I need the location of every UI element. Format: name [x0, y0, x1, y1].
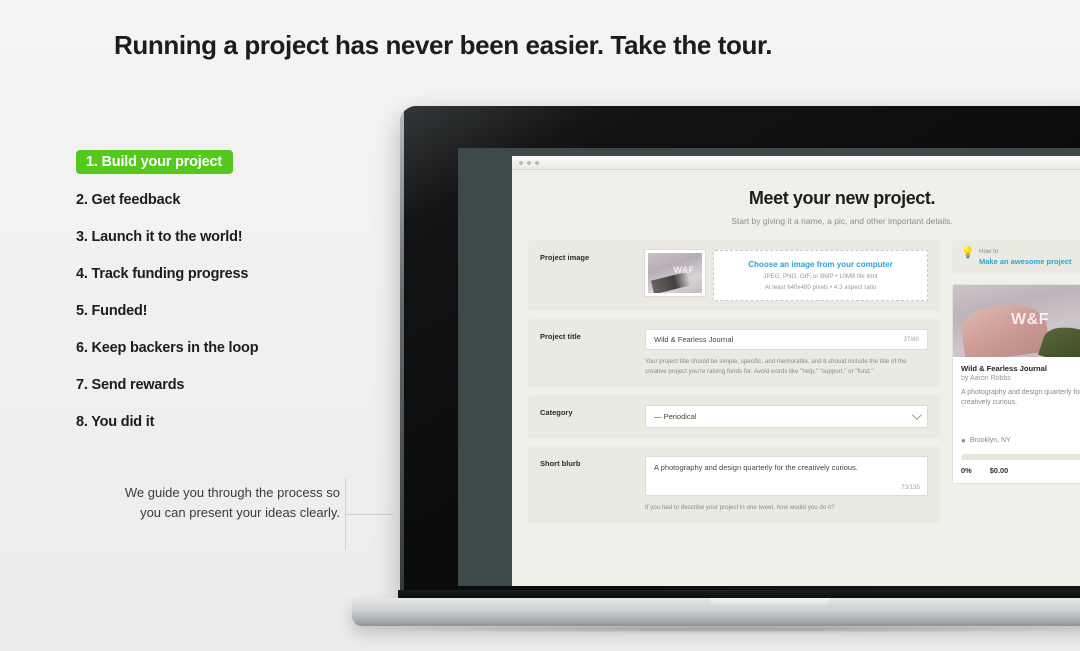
category-select[interactable]: — Periodical — [645, 405, 928, 428]
browser-window: Meet your new project. Start by giving i… — [512, 156, 1080, 586]
category-value: — Periodical — [654, 412, 697, 421]
laptop-shadow — [366, 625, 1080, 633]
step-item-3[interactable]: 3. Launch it to the world! — [76, 226, 376, 248]
project-editor-app: Meet your new project. Start by giving i… — [512, 170, 1080, 586]
short-blurb-textarea[interactable]: A photography and design quarterly for t… — [645, 456, 928, 496]
step-item-4[interactable]: 4. Track funding progress — [76, 263, 376, 285]
howto-panel[interactable]: 💡 How to Make an awesome project — [952, 240, 1080, 274]
dropzone-size-note: At least 640x480 pixels • 4:3 aspect rat… — [720, 284, 921, 291]
howto-link[interactable]: Make an awesome project — [979, 257, 1072, 266]
card-progress-bar — [961, 454, 1080, 460]
window-close-icon[interactable] — [519, 161, 523, 165]
project-title-help: Your project title should be simple, spe… — [645, 357, 928, 377]
card-stats: 0% $0.00 — [953, 466, 1080, 483]
app-title: Meet your new project. — [512, 188, 1080, 209]
step-item-2[interactable]: 2. Get feedback — [76, 189, 376, 211]
card-byline: by Aaron Robbs — [961, 375, 1080, 382]
dropzone-format-note: JPEG, PNG, GIF, or BMP • 10MB file limit — [720, 273, 921, 280]
form-row-short-blurb: Short blurb A photography and design qua… — [528, 446, 940, 523]
card-amount-pledged: $0.00 — [990, 466, 1009, 475]
page-title: Running a project has never been easier.… — [114, 30, 772, 61]
step-item-8[interactable]: 8. You did it — [76, 411, 376, 433]
window-maximize-icon[interactable] — [535, 161, 539, 165]
chevron-down-icon — [912, 410, 922, 420]
short-blurb-counter: 73/135 — [901, 484, 920, 491]
thumbnail-overlay-text: W&F — [674, 265, 695, 275]
laptop-lid: Meet your new project. Start by giving i… — [400, 106, 1080, 596]
app-body: Project image W&F Choose an image from y… — [512, 240, 1080, 531]
project-title-input[interactable]: Wild & Fearless Journal 37/60 — [645, 329, 928, 350]
editor-sidebar: 💡 How to Make an awesome project W&F — [952, 240, 1080, 531]
project-title-counter: 37/60 — [904, 336, 919, 343]
card-image: W&F — [953, 285, 1080, 357]
project-title-value: Wild & Fearless Journal — [654, 335, 733, 344]
form-row-project-title: Project title Wild & Fearless Journal 37… — [528, 319, 940, 387]
card-image-overlay-text: W&F — [953, 311, 1080, 329]
card-percent-funded: 0% — [961, 466, 972, 475]
form-row-category: Category — Periodical — [528, 395, 940, 438]
short-blurb-value: A photography and design quarterly for t… — [654, 463, 919, 472]
laptop-base-notch — [710, 598, 830, 606]
window-minimize-icon[interactable] — [527, 161, 531, 165]
app-subtitle: Start by giving it a name, a pic, and ot… — [512, 216, 1080, 226]
label-project-title: Project title — [540, 329, 645, 377]
choose-image-link[interactable]: Choose an image from your computer — [720, 260, 921, 269]
project-form: Project image W&F Choose an image from y… — [528, 240, 940, 531]
image-dropzone[interactable]: Choose an image from your computer JPEG,… — [713, 250, 928, 301]
project-image-thumbnail[interactable]: W&F — [645, 250, 705, 296]
tour-step-list: 1. Build your project 2. Get feedback 3.… — [76, 150, 376, 448]
step-item-7[interactable]: 7. Send rewards — [76, 374, 376, 396]
laptop-mockup: Meet your new project. Start by giving i… — [352, 106, 1080, 651]
lightbulb-icon: 💡 — [961, 248, 973, 259]
card-title: Wild & Fearless Journal — [961, 364, 1080, 373]
step-item-6[interactable]: 6. Keep backers in the loop — [76, 337, 376, 359]
card-description: A photography and design quarterly for t… — [961, 388, 1080, 408]
form-row-project-image: Project image W&F Choose an image from y… — [528, 240, 940, 311]
label-short-blurb: Short blurb — [540, 456, 645, 513]
card-location-text: Brooklyn, NY — [970, 437, 1011, 444]
step-label-1: 1. Build your project — [76, 150, 233, 174]
howto-eyebrow: How to — [979, 248, 1072, 255]
label-project-image: Project image — [540, 250, 645, 262]
tour-caption-text: We guide you through the process so you … — [110, 483, 340, 523]
browser-titlebar — [512, 156, 1080, 170]
project-preview-card: W&F Wild & Fearless Journal by Aaron Rob… — [952, 284, 1080, 484]
tour-page: Running a project has never been easier.… — [0, 0, 1080, 651]
laptop-lid-edge — [400, 106, 404, 596]
label-category: Category — [540, 405, 645, 428]
laptop-screen: Meet your new project. Start by giving i… — [458, 148, 1080, 586]
tour-caption: We guide you through the process so you … — [110, 483, 340, 523]
step-item-1[interactable]: 1. Build your project — [76, 150, 376, 189]
step-item-5[interactable]: 5. Funded! — [76, 300, 376, 322]
app-header: Meet your new project. Start by giving i… — [512, 170, 1080, 240]
card-location: ● Brooklyn, NY — [961, 436, 1080, 445]
location-pin-icon: ● — [961, 436, 966, 445]
short-blurb-help: If you had to describe your project in o… — [645, 503, 928, 513]
